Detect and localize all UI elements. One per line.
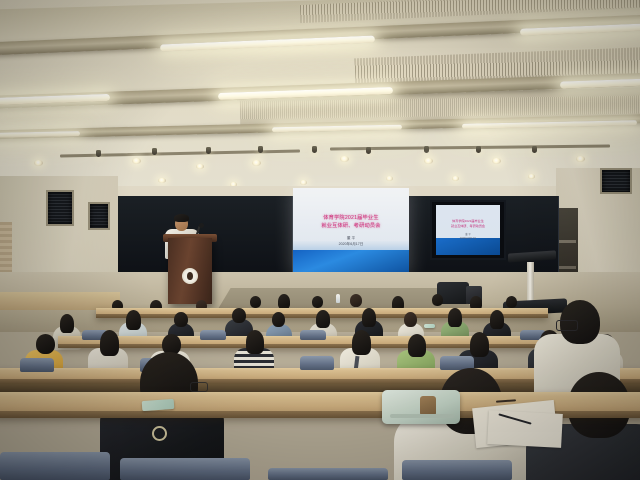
wall-vent-icon <box>600 168 632 194</box>
slide-title-line1: 体育学院2021届毕业生 <box>293 214 409 221</box>
monitor-title-line2: 就业互体研、考研动员会 <box>436 223 500 228</box>
shirt-graphic-icon <box>152 426 167 441</box>
monitor-date: 2020年6月17日 <box>436 236 500 240</box>
wall-vent-icon <box>46 190 74 226</box>
water-bottle <box>336 294 340 303</box>
lecture-hall-photo: 体育学院2021届毕业生 就业互体研、考研动员会 董 平 2020年6月17日 … <box>0 0 640 480</box>
chair-back <box>120 458 250 480</box>
smartphone-on-desk <box>424 324 435 328</box>
eyeglasses-icon <box>190 382 208 392</box>
chair-back <box>300 356 334 370</box>
chair-back <box>0 452 110 480</box>
university-crest-icon <box>182 268 198 284</box>
chair-back <box>200 330 226 340</box>
chair-back <box>268 468 388 480</box>
chair-back <box>402 460 512 480</box>
microphone-head-icon <box>199 223 204 228</box>
backpack-pocket <box>420 396 436 416</box>
secondary-display: 体育学院2021届毕业生 就业互体研、考研动员会 董 平 2020年6月17日 <box>430 200 506 260</box>
slide-date: 2020年6月17日 <box>293 242 409 247</box>
papers-on-desk <box>487 410 563 448</box>
chair-back <box>300 330 326 340</box>
slide-title-line2: 就业互体研、考研动员会 <box>293 222 409 229</box>
presenter-hair <box>174 214 189 222</box>
eyeglasses-icon <box>556 320 578 331</box>
chair-back <box>20 358 54 372</box>
slide-presenter: 董 平 <box>293 236 409 241</box>
main-projection-screen: 体育学院2021届毕业生 就业互体研、考研动员会 董 平 2020年6月17日 <box>293 188 409 276</box>
wall-vent-icon <box>88 202 110 230</box>
backpack-strap <box>390 414 454 418</box>
